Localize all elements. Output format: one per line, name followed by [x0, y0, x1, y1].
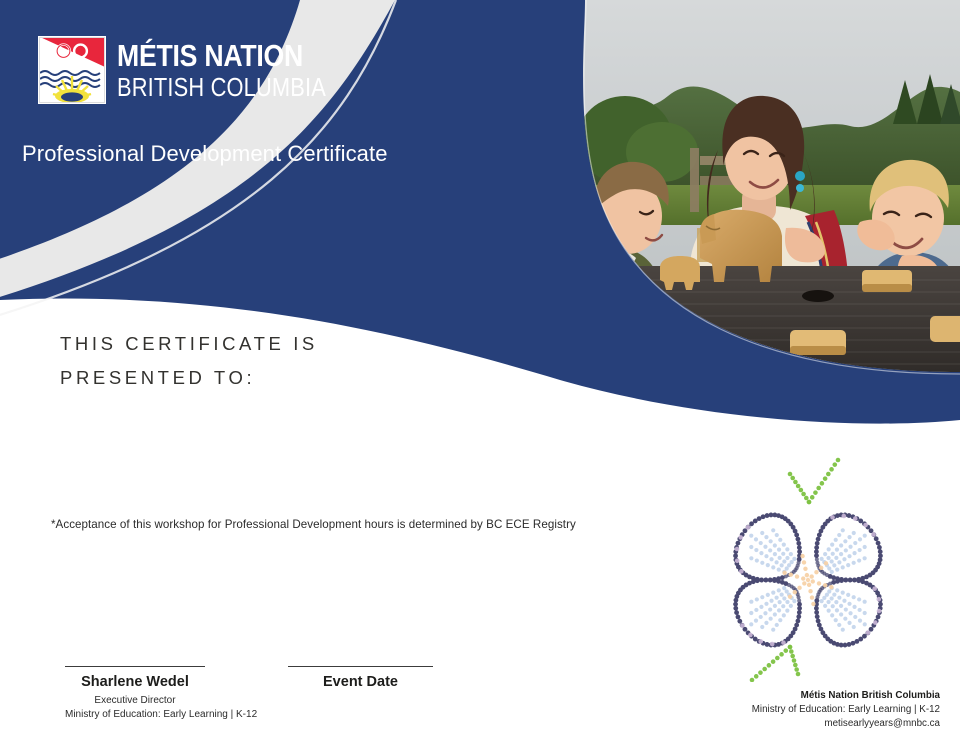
bead-dot	[814, 606, 819, 611]
bead-dot	[795, 574, 799, 578]
bead-dot	[768, 548, 772, 552]
bead-dot	[736, 615, 741, 620]
bead-dot	[781, 604, 785, 608]
bead-dot	[814, 570, 818, 574]
bead-dot	[823, 476, 828, 481]
bead-dot	[834, 538, 838, 542]
bead-dot	[754, 608, 758, 612]
bead-dot	[863, 556, 867, 560]
bead-dot	[775, 596, 779, 600]
bead-dot	[749, 611, 753, 615]
bead-dot	[781, 552, 785, 556]
bead-dot	[736, 541, 741, 546]
bead-dot	[764, 554, 768, 558]
bead-dot	[846, 563, 850, 567]
certificate-page: MÉTIS NATION BRITISH COLUMBIA Profession…	[0, 0, 960, 742]
bead-dot	[832, 563, 836, 567]
bead-dot	[797, 586, 801, 590]
bead-dot	[789, 604, 793, 608]
bead-dot	[797, 549, 802, 554]
bead-dot	[749, 534, 753, 538]
bead-dot	[789, 572, 793, 576]
bead-dot	[777, 588, 781, 592]
bead-dot	[759, 541, 763, 545]
bead-dot	[835, 608, 839, 612]
bead-dot	[759, 605, 763, 609]
bead-dot	[796, 619, 801, 624]
bead-dot	[834, 618, 838, 622]
bead-dot	[777, 568, 781, 572]
bead-dot	[872, 586, 877, 591]
workshop-title-field[interactable]	[60, 462, 580, 508]
bead-dot	[847, 554, 851, 558]
bead-dot	[874, 536, 879, 541]
bead-dot	[826, 600, 830, 604]
bead-dot	[877, 545, 882, 550]
bead-dot	[814, 545, 819, 550]
bead-dot	[834, 556, 838, 560]
bead-dot	[766, 593, 770, 597]
bead-dot	[759, 615, 763, 619]
org-department: Ministry of Education: Early Learning | …	[752, 703, 940, 717]
bead-dot	[842, 599, 846, 603]
bead-dot	[749, 545, 753, 549]
bead-dot	[830, 570, 834, 574]
bead-dot	[755, 558, 759, 562]
bead-dot	[848, 545, 852, 549]
bead-dot	[797, 599, 801, 603]
bead-dot	[788, 645, 793, 650]
bead-dot	[852, 605, 856, 609]
bead-dot	[763, 578, 768, 583]
bead-dot	[820, 481, 825, 486]
bead-dot	[852, 551, 856, 555]
bead-dot	[829, 467, 834, 472]
bead-dot	[837, 560, 841, 564]
bead-dot	[856, 578, 861, 583]
bead-dot	[740, 623, 745, 628]
bead-dot	[836, 458, 841, 463]
bead-dot	[847, 602, 851, 606]
logo-line-british-columbia: BRITISH COLUMBIA	[117, 74, 326, 100]
bead-dot	[816, 537, 821, 542]
presented-to-heading: THIS CERTIFICATE IS PRESENTED TO:	[60, 327, 318, 395]
bead-dot	[797, 602, 802, 607]
bead-dot	[853, 541, 857, 545]
bead-dot	[758, 639, 763, 644]
bead-dot	[830, 515, 835, 520]
bead-dot	[788, 594, 792, 598]
bead-dot	[866, 630, 871, 635]
bead-dot	[816, 486, 821, 491]
bead-dot	[735, 547, 740, 552]
bead-dot	[817, 533, 822, 538]
bead-dot	[860, 579, 865, 584]
bead-dot	[857, 597, 861, 601]
bead-dot	[863, 534, 867, 538]
bead-dot	[814, 610, 819, 615]
bead-dot	[737, 619, 742, 624]
bead-dot	[835, 588, 839, 592]
bead-dot	[780, 593, 784, 597]
organisation-contact-block: Métis Nation British Columbia Ministry o…	[752, 689, 940, 731]
bead-dot	[852, 578, 857, 583]
bead-dot	[793, 590, 797, 594]
bead-dot	[843, 617, 847, 621]
bead-dot	[790, 476, 795, 481]
photo-edge-highlight	[584, 0, 960, 374]
bead-dot	[792, 557, 796, 561]
logo-wordmark: MÉTIS NATION BRITISH COLUMBIA	[117, 40, 366, 100]
bead-dot	[835, 548, 839, 552]
bead-dot	[841, 628, 845, 632]
bead-dot	[793, 480, 798, 485]
bead-dot	[822, 596, 826, 600]
bead-dot	[817, 581, 821, 585]
bead-dot	[839, 543, 843, 547]
bead-dot	[738, 535, 743, 540]
bead-dot	[839, 604, 843, 608]
bead-dot	[769, 617, 773, 621]
bead-dot	[777, 608, 781, 612]
bead-dot	[771, 659, 776, 664]
bead-dot	[797, 545, 802, 550]
bead-dot	[834, 600, 838, 604]
bead-dot	[735, 558, 740, 563]
bead-dot	[809, 574, 813, 578]
bead-dot	[813, 490, 818, 495]
bead-dot	[778, 618, 782, 622]
bead-dot	[748, 633, 753, 638]
bead-dot	[807, 500, 812, 505]
bead-dot	[815, 541, 820, 546]
bead-dot	[769, 539, 773, 543]
bead-dot	[876, 541, 881, 546]
bead-dot	[773, 612, 777, 616]
bead-dot	[853, 516, 858, 521]
bead-dot	[858, 608, 862, 612]
bead-dot	[827, 609, 831, 613]
bead-dot	[827, 566, 831, 570]
bead-dot	[782, 571, 786, 575]
bead-dot	[763, 545, 767, 549]
bead-dot	[802, 560, 806, 564]
bead-dot	[811, 602, 815, 606]
bead-dot	[863, 523, 868, 528]
bead-dot	[804, 496, 809, 501]
bead-dot	[734, 610, 739, 615]
bead-dot	[754, 548, 758, 552]
bead-dot	[771, 565, 775, 569]
bead-dot	[797, 610, 802, 615]
signature-rule	[65, 666, 205, 667]
bead-dot	[775, 656, 780, 661]
signatory-details: Executive Director Ministry of Education…	[65, 694, 205, 721]
bead-dot	[771, 628, 775, 632]
presented-to-line-1: THIS CERTIFICATE IS	[60, 327, 318, 361]
bead-dot	[778, 600, 782, 604]
bead-dot	[830, 596, 834, 600]
bead-dot	[790, 560, 794, 564]
org-email[interactable]: metisearlyyears@mnbc.ca	[752, 717, 940, 731]
bead-dot	[878, 549, 883, 554]
bead-dot	[763, 611, 767, 615]
bead-dot	[863, 545, 867, 549]
bead-dot	[844, 548, 848, 552]
bead-dot	[839, 612, 843, 616]
bead-dot	[792, 658, 797, 663]
bead-dot	[799, 488, 804, 493]
bead-dot	[820, 599, 824, 603]
bead-dot	[878, 553, 883, 558]
bead-dot	[852, 625, 856, 629]
bead-dot	[826, 556, 830, 560]
bead-dot	[789, 552, 793, 556]
bead-dot	[835, 568, 839, 572]
bead-dot	[852, 595, 856, 599]
bead-dot	[801, 576, 805, 580]
bead-dot	[846, 593, 850, 597]
bead-dot	[782, 613, 786, 617]
wooden-bison-toy	[700, 210, 782, 282]
bead-dot	[754, 674, 759, 679]
bead-dot	[771, 528, 775, 532]
bead-dot	[876, 615, 881, 620]
bead-dot	[794, 623, 799, 628]
bead-dot	[733, 602, 738, 607]
bead-dot	[843, 539, 847, 543]
bead-dot	[830, 543, 834, 547]
bead-dot	[785, 556, 789, 560]
bead-dot	[837, 623, 841, 627]
page-title: Professional Development Certificate	[22, 141, 388, 167]
bead-dot	[785, 547, 789, 551]
bead-dot	[775, 623, 779, 627]
bead-dot	[782, 586, 786, 590]
bead-dot	[759, 551, 763, 555]
bead-dot	[837, 533, 841, 537]
bead-dot	[796, 541, 801, 546]
bead-dot	[764, 621, 768, 625]
bead-dot	[764, 602, 768, 606]
bead-dot	[852, 561, 856, 565]
bead-dot	[778, 538, 782, 542]
bead-dot	[832, 593, 836, 597]
registry-footnote: *Acceptance of this workshop for Profess…	[51, 518, 576, 531]
bead-dot	[794, 667, 799, 672]
bead-dot	[847, 535, 851, 539]
bead-dot	[760, 625, 764, 629]
bead-dot	[848, 611, 852, 615]
bead-dot	[808, 589, 812, 593]
bead-dot	[775, 533, 779, 537]
bead-dot	[819, 566, 823, 570]
bead-dot	[876, 597, 881, 602]
bead-dot	[823, 604, 827, 608]
bead-dot	[831, 604, 835, 608]
bead-dot	[843, 578, 848, 583]
bead-dot	[780, 563, 784, 567]
bead-dot	[773, 604, 777, 608]
bead-dot	[766, 563, 770, 567]
bead-dot	[793, 663, 798, 668]
org-name: Métis Nation British Columbia	[752, 689, 940, 703]
bead-dot	[764, 535, 768, 539]
metis-beadwork-floral-motif	[690, 452, 940, 682]
bead-dot	[781, 640, 786, 645]
bead-dot	[841, 528, 845, 532]
bead-dot	[839, 578, 844, 583]
bead-dot	[820, 557, 824, 561]
bead-dot	[858, 548, 862, 552]
bead-dot	[769, 599, 773, 603]
bead-dot	[755, 578, 760, 583]
recipient-name-field[interactable]	[60, 410, 580, 462]
bead-dot	[863, 622, 867, 626]
bead-dot	[789, 649, 794, 654]
bead-dot	[782, 596, 786, 600]
bead-dot	[810, 495, 815, 500]
bead-dot	[823, 583, 827, 587]
bead-dot	[847, 621, 851, 625]
bead-dot	[788, 472, 793, 477]
bead-dot	[830, 613, 834, 617]
bead-dot	[770, 642, 775, 647]
hero-photo	[560, 0, 960, 380]
presented-to-line-2: PRESENTED TO:	[60, 361, 318, 395]
bead-dot	[839, 552, 843, 556]
bead-dot	[792, 599, 796, 603]
bead-dot	[837, 596, 841, 600]
bead-dot	[815, 557, 819, 561]
bead-dot	[848, 578, 853, 583]
bead-dot	[779, 652, 784, 657]
bead-dot	[841, 565, 845, 569]
bead-dot	[749, 556, 753, 560]
bead-dot	[749, 600, 753, 604]
bead-dot	[782, 543, 786, 547]
bead-dot	[796, 484, 801, 489]
bead-dot	[863, 600, 867, 604]
bead-dot	[858, 619, 862, 623]
bead-dot	[871, 532, 876, 537]
bead-dot	[768, 578, 773, 583]
bead-dot	[762, 667, 767, 672]
bead-dot	[844, 607, 848, 611]
bead-dot	[778, 556, 782, 560]
bead-dot	[777, 548, 781, 552]
bead-dot	[796, 537, 801, 542]
bead-dot	[772, 578, 777, 583]
bead-dot	[754, 537, 758, 541]
bead-dot	[857, 558, 861, 562]
bead-dot	[773, 552, 777, 556]
bead-dot	[749, 622, 753, 626]
bead-dot	[769, 557, 773, 561]
bead-dot	[803, 567, 807, 571]
bead-dot	[811, 579, 815, 583]
signature-block-date: Event Date	[288, 666, 433, 690]
bead-dot	[816, 619, 821, 624]
bead-dot	[802, 581, 806, 585]
bead-dot	[790, 654, 795, 659]
bead-dot	[773, 543, 777, 547]
bead-dot	[785, 609, 789, 613]
signatory-department: Ministry of Education: Early Learning | …	[65, 708, 205, 722]
bead-dot	[775, 560, 779, 564]
bead-dot	[815, 614, 820, 619]
bead-dot	[830, 559, 834, 563]
signatory-title: Executive Director	[65, 694, 205, 708]
bead-dot	[783, 648, 788, 653]
logo-line-metis-nation: MÉTIS NATION	[117, 40, 331, 71]
bead-dot	[806, 578, 810, 582]
bead-dot	[831, 552, 835, 556]
bead-dot	[841, 514, 846, 519]
bead-dot	[796, 614, 801, 619]
bead-dot	[842, 557, 846, 561]
metis-infinity-sun-waves-mark	[38, 36, 106, 104]
bead-dot	[760, 561, 764, 565]
bead-dot	[755, 597, 759, 601]
bead-dot	[805, 573, 809, 577]
bead-dot	[824, 561, 828, 565]
bead-dot	[785, 589, 789, 593]
bead-dot	[801, 492, 806, 497]
date-rule	[288, 666, 433, 667]
bead-dot	[782, 559, 786, 563]
bead-dot	[767, 663, 772, 668]
bead-dot	[832, 462, 837, 467]
bead-dot	[853, 615, 857, 619]
bead-dot	[827, 547, 831, 551]
bead-dot	[858, 537, 862, 541]
bead-dot	[760, 595, 764, 599]
bead-dot	[863, 611, 867, 615]
bead-dot	[814, 553, 819, 558]
bead-dot	[771, 591, 775, 595]
bead-dot	[796, 672, 801, 677]
signatory-name: Sharlene Wedel	[65, 674, 205, 690]
bead-dot	[823, 552, 827, 556]
bead-dot	[768, 607, 772, 611]
bead-dot	[746, 525, 751, 530]
bead-dot	[750, 678, 755, 682]
bead-dot	[739, 569, 744, 574]
bead-dot	[760, 531, 764, 535]
bead-dot	[754, 619, 758, 623]
bead-dot	[873, 620, 878, 625]
bead-dot	[776, 579, 781, 584]
bead-dot	[758, 670, 763, 675]
bead-dot	[852, 531, 856, 535]
bead-dot	[800, 554, 804, 558]
bead-dot	[829, 585, 833, 589]
bead-dot	[807, 583, 811, 587]
bead-dot	[785, 600, 789, 604]
bead-dot	[841, 591, 845, 595]
bead-dot	[877, 609, 882, 614]
bead-dot	[810, 595, 814, 599]
mnbc-logo: MÉTIS NATION BRITISH COLUMBIA	[38, 36, 366, 104]
bead-dot	[733, 606, 738, 611]
bead-dot	[759, 578, 764, 583]
bead-dot	[826, 472, 831, 477]
event-date-label[interactable]: Event Date	[288, 674, 433, 690]
signature-block-signatory: Sharlene Wedel Executive Director Minist…	[65, 666, 205, 721]
